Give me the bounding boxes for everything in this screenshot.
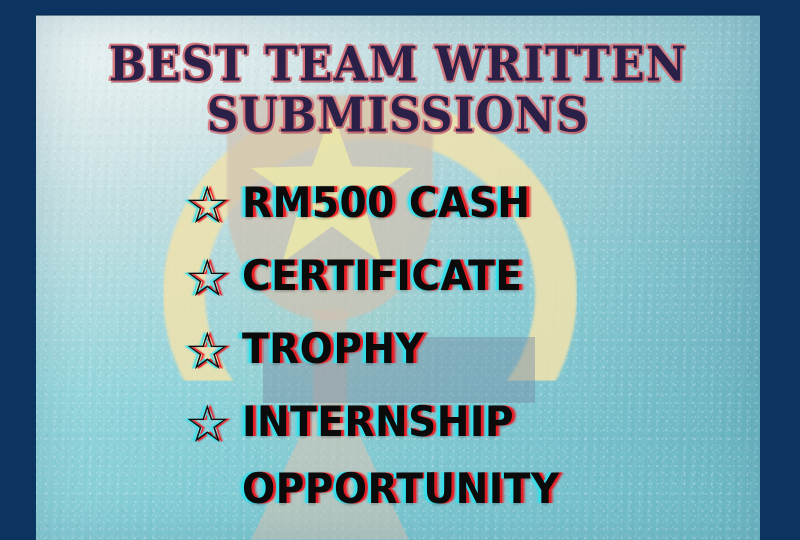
star-outline-icon: ☆ [184,251,242,307]
star-outline-icon: ☆ [184,397,242,453]
page-title-line-2: SUBMISSIONS [36,91,760,140]
list-item-label-continuation: OPPORTUNITY [242,464,724,514]
prize-list: ☆ RM500 CASH ☆ CERTIFICATE ☆ TROPHY ☆ IN… [184,178,760,537]
page-title: BEST TEAM WRITTEN SUBMISSIONS [36,40,760,135]
border-left [0,0,36,540]
list-item: ☆ TROPHY [184,324,760,380]
star-outline-icon: ☆ [184,324,242,380]
list-item: ☆ INTERNSHIP [184,397,760,453]
border-right [760,0,800,540]
border-seam [36,14,760,16]
award-poster: BEST TEAM WRITTEN SUBMISSIONS ☆ RM500 CA… [0,0,800,540]
list-item: ☆ CERTIFICATE [184,251,760,307]
list-item-label: INTERNSHIP [242,397,724,447]
page-title-line-1: BEST TEAM WRITTEN [36,40,760,89]
list-item-label: RM500 CASH [242,178,724,228]
list-item-continuation: ☆ OPPORTUNITY [184,464,760,520]
poster-photo-area: BEST TEAM WRITTEN SUBMISSIONS ☆ RM500 CA… [36,15,760,540]
list-item-label: CERTIFICATE [242,251,724,301]
border-top [0,0,800,15]
list-item: ☆ RM500 CASH [184,178,760,234]
list-item-label: TROPHY [242,324,724,374]
star-outline-icon: ☆ [184,178,242,234]
